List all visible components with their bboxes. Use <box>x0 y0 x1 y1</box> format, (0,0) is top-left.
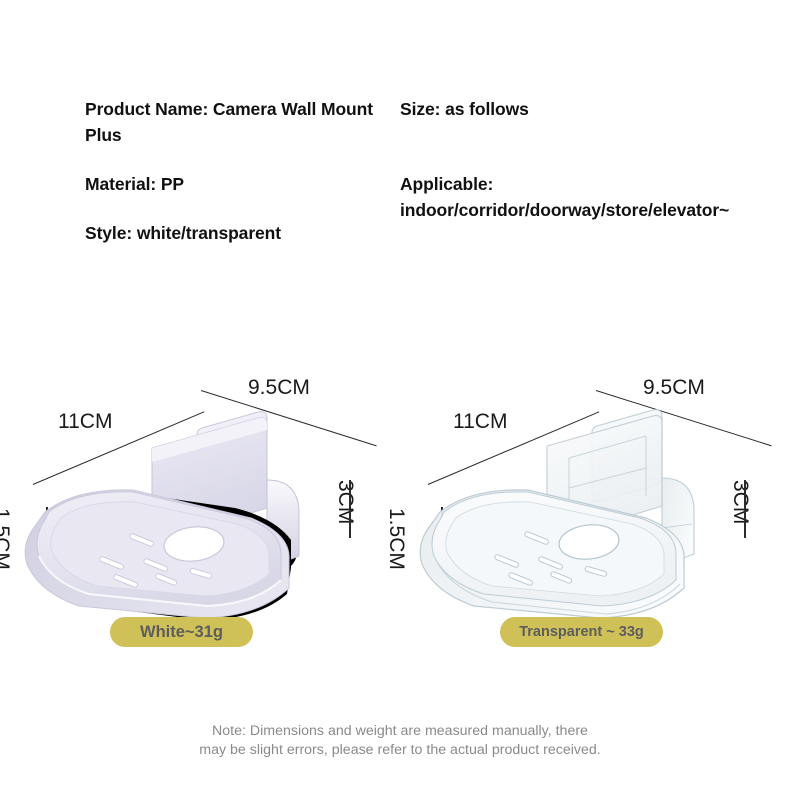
product-panel-transparent: 9.5CM 11CM 1.5CM 3CM <box>400 368 790 658</box>
product-panel-white: 9.5CM 11CM 1.5CM 3CM <box>5 368 395 658</box>
spec-style: Style: white/transparent <box>85 220 385 246</box>
product-image-white <box>5 368 395 658</box>
spec-product-name: Product Name: Camera Wall Mount Plus <box>85 96 385 148</box>
spec-material: Material: PP <box>85 171 385 197</box>
footnote: Note: Dimensions and weight are measured… <box>0 722 800 760</box>
footnote-line-2: may be slight errors, please refer to th… <box>0 741 800 760</box>
product-image-transparent <box>400 368 790 658</box>
badge-white: White~31g <box>110 617 253 647</box>
spec-column-right: Size: as follows Applicable: indoor/corr… <box>400 96 775 223</box>
footnote-line-1: Note: Dimensions and weight are measured… <box>0 722 800 741</box>
spec-size: Size: as follows <box>400 96 775 122</box>
badge-transparent: Transparent ~ 33g <box>500 617 663 647</box>
spec-applicable: Applicable: indoor/corridor/doorway/stor… <box>400 171 775 223</box>
spec-column-left: Product Name: Camera Wall Mount Plus Mat… <box>85 96 385 246</box>
product-infographic: Product Name: Camera Wall Mount Plus Mat… <box>0 0 800 800</box>
